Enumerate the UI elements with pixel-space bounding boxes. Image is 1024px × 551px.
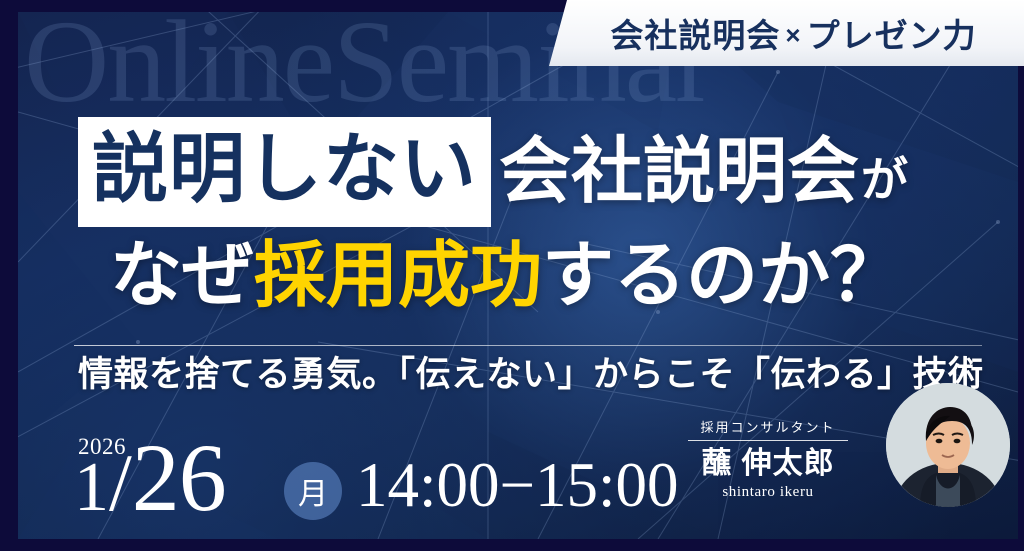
badge-separator: ×: [780, 20, 806, 50]
speaker-portrait: [886, 383, 1010, 507]
subtitle: 情報を捨てる勇気。「伝えない」からこそ「伝わる」技術: [78, 356, 998, 395]
topic-badge: 会社説明会×プレゼン力: [549, 0, 1024, 66]
schedule-weekday-badge: 月: [284, 462, 342, 520]
headline-line-1: 説明しない 会社説明会が: [78, 108, 982, 236]
portrait-illustration: [886, 383, 1010, 507]
topic-badge-text: 会社説明会×プレゼン力: [596, 9, 976, 57]
schedule-date: 1/26: [70, 434, 226, 522]
badge-right-text: プレゼン力: [807, 17, 977, 54]
speaker-name: 蘸 伸太郎: [688, 447, 848, 480]
headline-line-2: なぜ採用成功するのか？: [110, 240, 1010, 312]
headline-highlight: 採用成功: [254, 236, 542, 316]
speaker-divider: [688, 440, 848, 441]
schedule-month: 1: [74, 449, 108, 526]
schedule-row: 2026 1/26 月 14:00−15:00: [70, 416, 679, 526]
speaker-block: 採用コンサルタント 蘸 伸太郎 shintaro ikeru: [688, 417, 848, 501]
seminar-banner: OnlineSeminar 説明しない 会社説明会が なぜ採用成功するのか？ 情…: [0, 0, 1024, 551]
schedule-slash: /: [108, 437, 132, 528]
speaker-role: 採用コンサルタント: [688, 417, 848, 440]
headline-line-2-pre: なぜ: [110, 236, 254, 316]
speaker-romaji: shintaro ikeru: [688, 480, 848, 501]
headline-line-2-post: するのか？: [542, 236, 902, 316]
headline-line-1-main: 会社説明会: [499, 136, 859, 208]
subtitle-divider: [74, 345, 982, 346]
headline-line-1-rest: 会社説明会が: [499, 136, 908, 208]
headline-emphasis-box: 説明しない: [78, 117, 491, 227]
headline-boxed-text: 説明しない: [92, 132, 477, 208]
schedule-time: 14:00−15:00: [356, 449, 679, 526]
banner-stage: OnlineSeminar 説明しない 会社説明会が なぜ採用成功するのか？ 情…: [18, 12, 1018, 539]
schedule-day: 26: [132, 424, 226, 531]
badge-left-text: 会社説明会: [610, 17, 780, 54]
headline-line-1-particle: が: [859, 156, 908, 203]
